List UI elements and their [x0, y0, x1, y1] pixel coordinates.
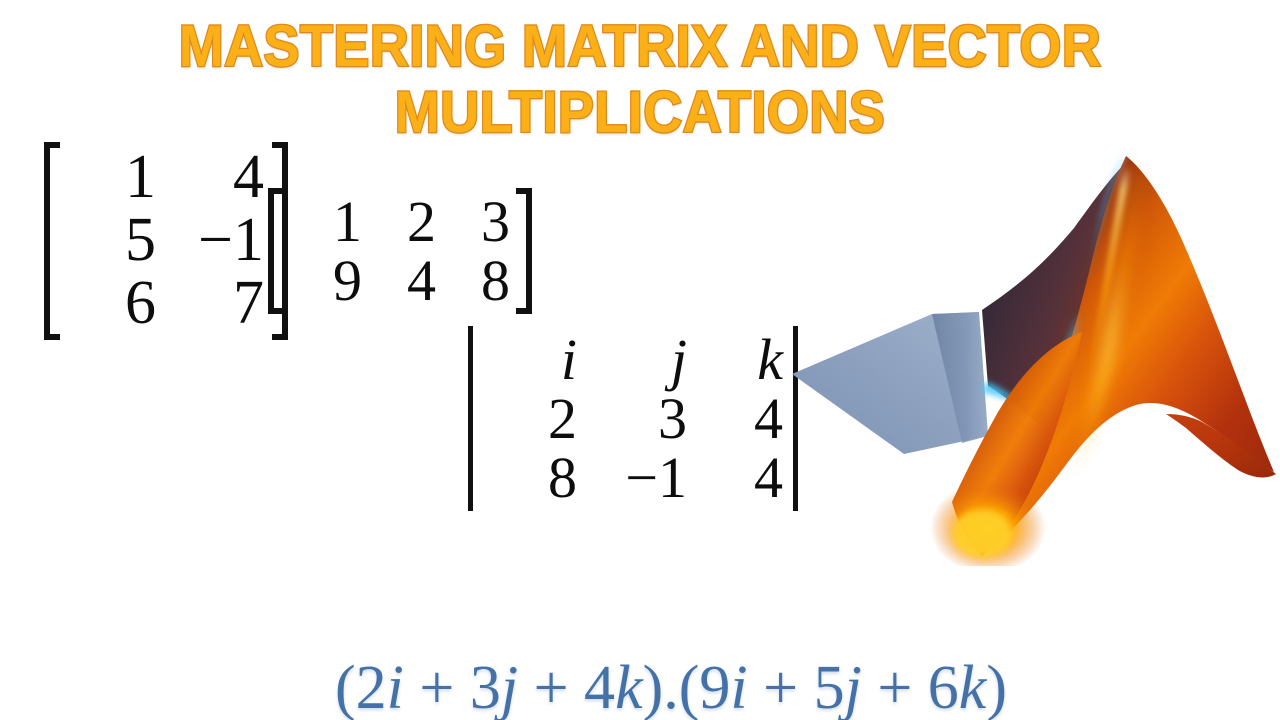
page-title: MASTERING MATRIX AND VECTOR MULTIPLICATI… — [0, 14, 1280, 146]
determinant-cell-r1c2: 4 — [752, 389, 785, 448]
matrix-a-3x2: 1 4 5 −1 6 7 — [44, 142, 288, 340]
dot-equation-p4: + 4 — [518, 654, 615, 720]
determinant-cell-r1c0: 2 — [546, 389, 579, 448]
dot-equation-p0: (2 — [335, 654, 387, 720]
dot-equation-p6: ).(9 — [643, 654, 731, 720]
matrix-a-grid: 1 4 5 −1 6 7 — [60, 142, 272, 340]
matrix-b-cell-r0c0: 1 — [331, 192, 364, 251]
matrix-a-left-bracket — [44, 142, 60, 340]
matrix-a-cell-r0c1: 4 — [231, 146, 266, 209]
determinant-cell-r0c0: i — [559, 330, 579, 389]
matrix-b-cell-r1c0: 9 — [331, 251, 364, 310]
determinant-cell-r0c2: k — [755, 330, 785, 389]
matlab-membrane-logo — [782, 136, 1280, 566]
determinant-cell-r2c0: 8 — [546, 448, 579, 507]
determinant-cell-r2c2: 4 — [752, 448, 785, 507]
slide-canvas: MASTERING MATRIX AND VECTOR MULTIPLICATI… — [0, 0, 1280, 720]
dot-equation-p9: j — [845, 654, 862, 720]
dot-equation-p7: i — [730, 654, 747, 720]
dot-equation-p1: i — [387, 654, 404, 720]
dot-equation-p5: k — [615, 654, 643, 720]
dot-equation-p11: k — [959, 654, 987, 720]
matrix-b-2x3: 1 2 3 9 4 8 — [268, 188, 532, 314]
matrix-b-cell-r1c1: 4 — [405, 251, 438, 310]
matrix-b-right-bracket — [516, 188, 532, 314]
dot-equation-p8: + 5 — [748, 654, 845, 720]
determinant-cell-r0c1: j — [669, 330, 689, 389]
determinant-3x3: i j k 2 3 4 8 −1 4 — [468, 326, 798, 511]
dot-equation-p3: j — [501, 654, 518, 720]
dot-equation-p10: + 6 — [862, 654, 959, 720]
dot-equation-p2: + 3 — [404, 654, 501, 720]
title-line-1: MASTERING MATRIX AND VECTOR — [45, 14, 1235, 80]
matrix-b-cell-r1c2: 8 — [479, 251, 512, 310]
matrix-a-cell-r0c0: 1 — [123, 146, 158, 209]
matrix-b-cell-r0c2: 3 — [479, 192, 512, 251]
dot-equation-p12: ) — [986, 654, 1007, 720]
matrix-a-cell-r2c1: 7 — [231, 272, 266, 335]
matrix-b-left-bracket — [268, 188, 284, 314]
determinant-grid: i j k 2 3 4 8 −1 4 — [473, 326, 793, 511]
matrix-a-cell-r2c0: 6 — [123, 272, 158, 335]
determinant-cell-r1c1: 3 — [656, 389, 689, 448]
matrix-b-grid: 1 2 3 9 4 8 — [284, 188, 516, 314]
dot-product-equation: (2i + 3j + 4k).(9i + 5j + 6k) — [0, 582, 1280, 720]
determinant-cell-r2c1: −1 — [623, 448, 689, 507]
matrix-b-cell-r0c1: 2 — [405, 192, 438, 251]
matrix-a-cell-r1c0: 5 — [123, 209, 158, 272]
matrix-a-cell-r1c1: −1 — [196, 209, 266, 272]
logo-yellow-glow-core — [952, 510, 1012, 558]
